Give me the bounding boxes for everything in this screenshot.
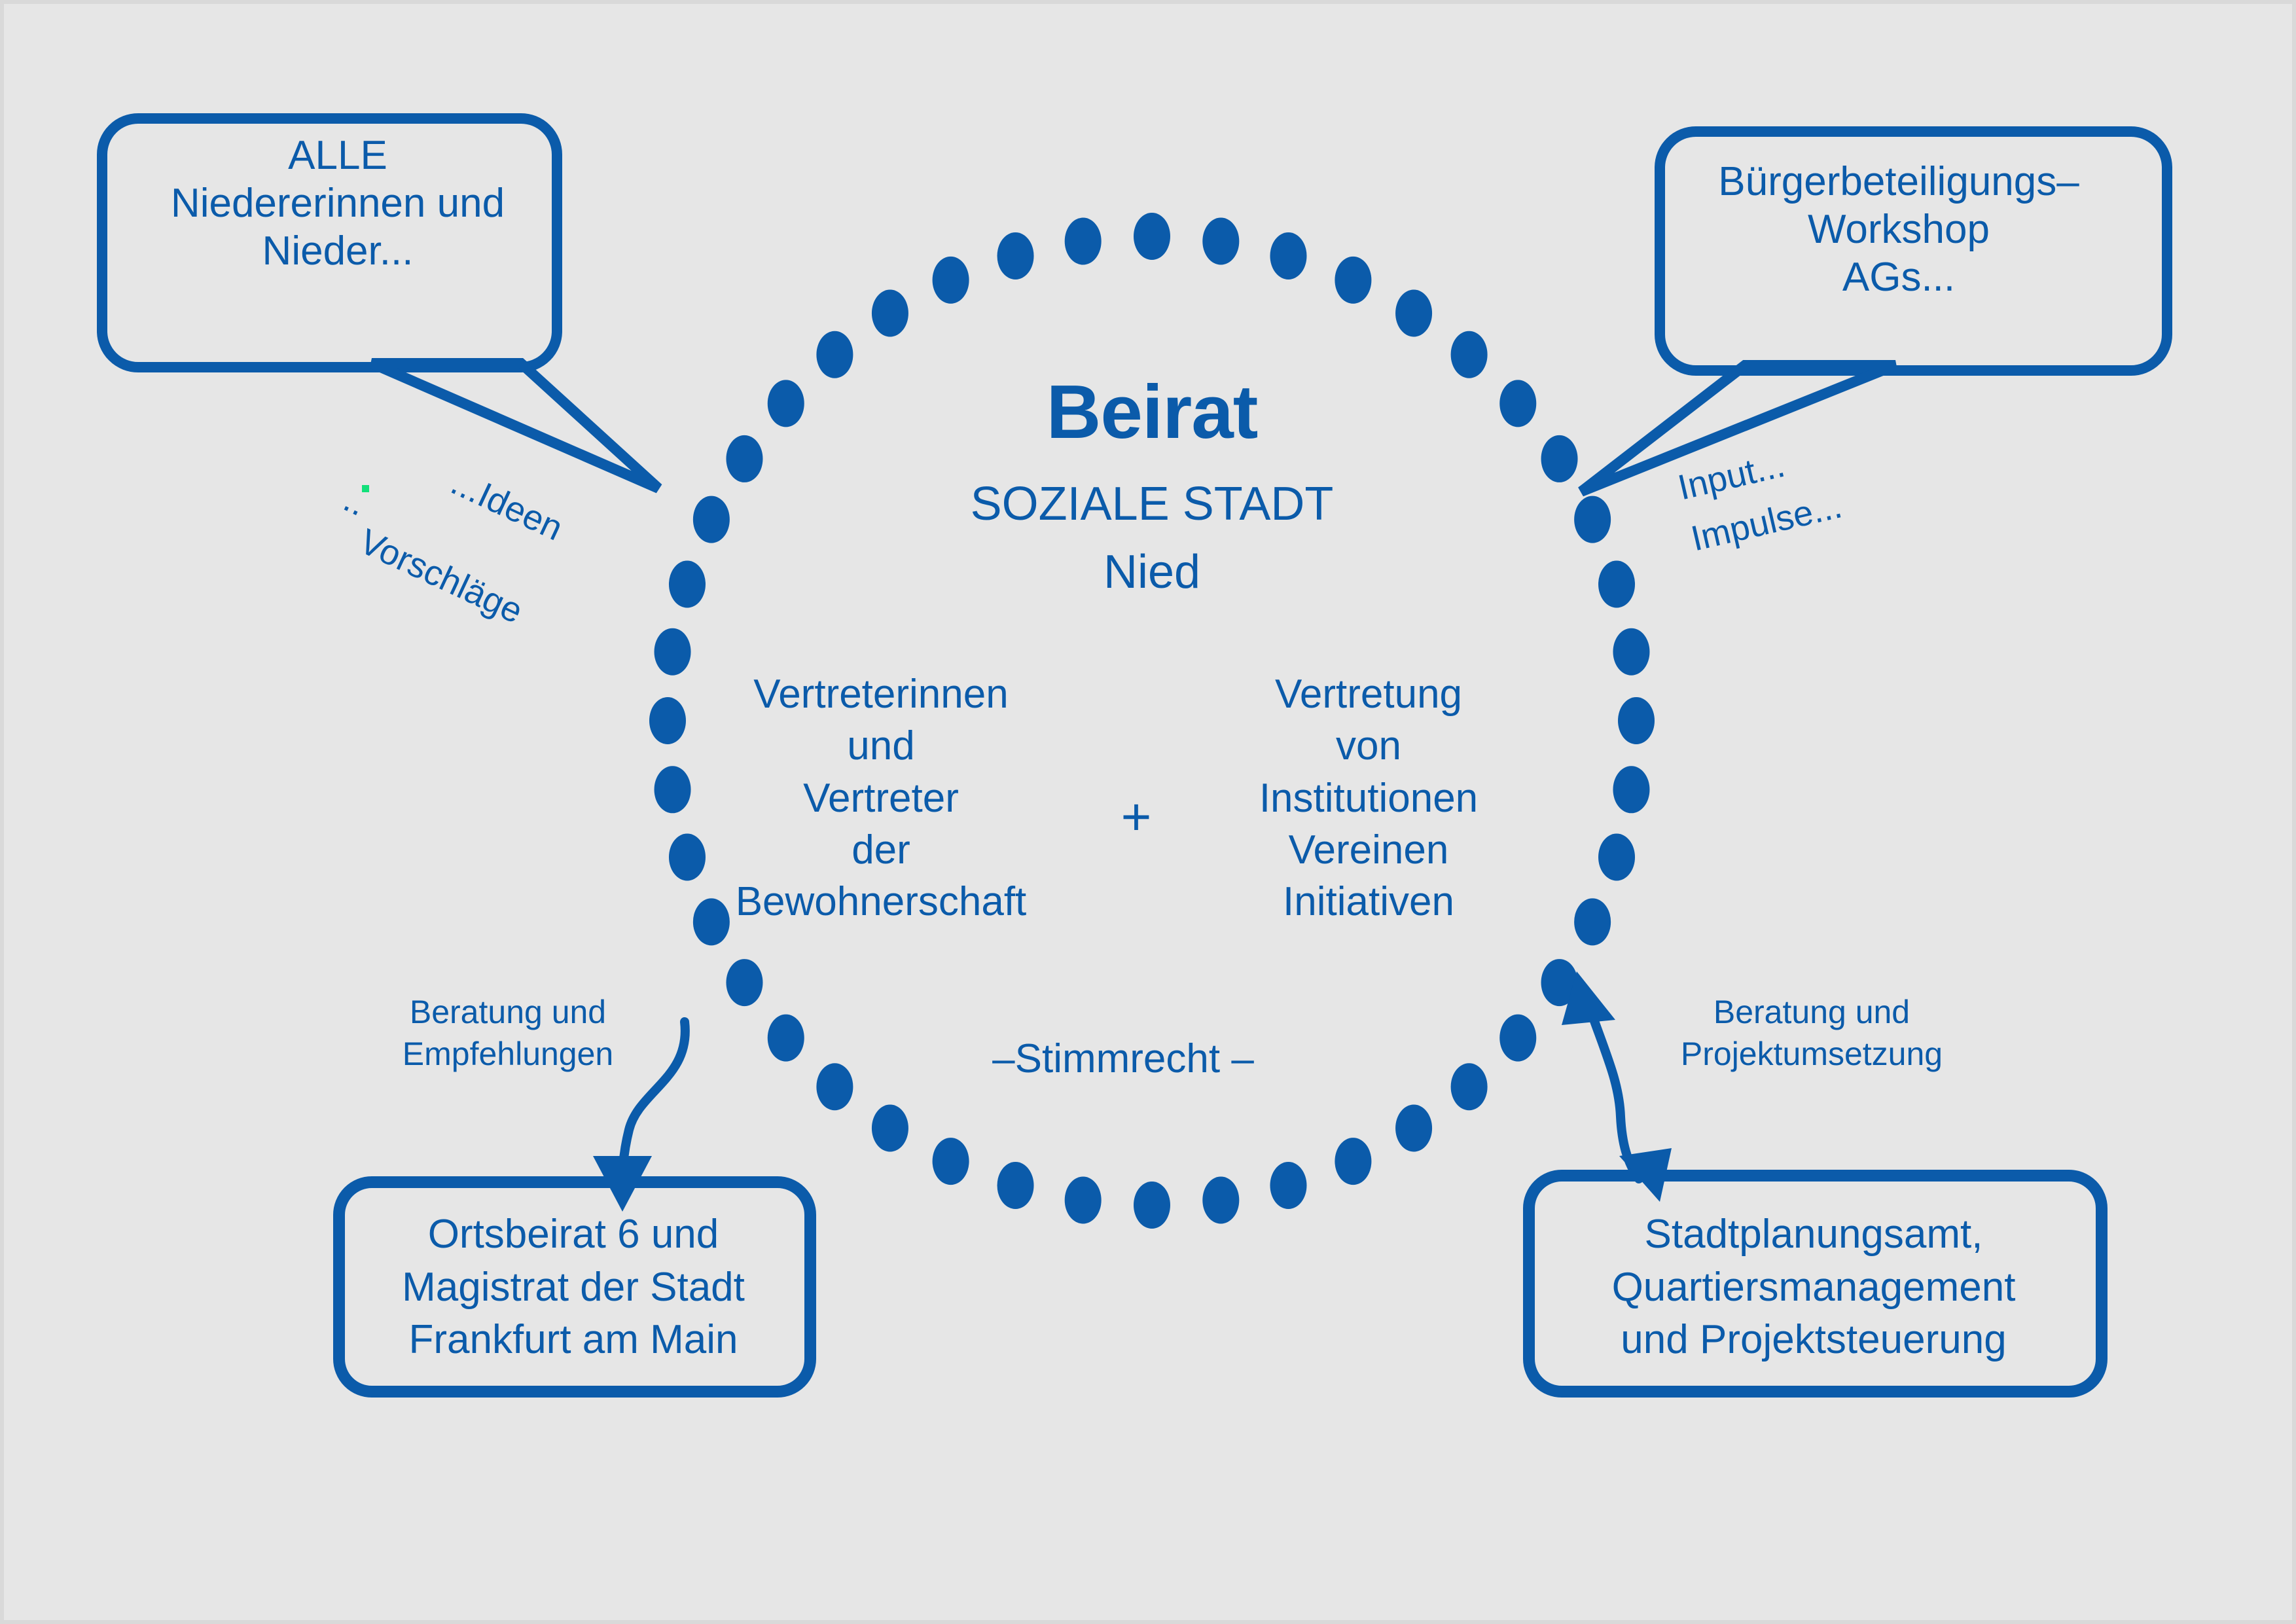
circle-dot <box>1270 232 1306 280</box>
circle-dot <box>1499 380 1536 427</box>
circle-dot <box>997 232 1034 280</box>
center-column-left: Vertreterinnen und Vertreter der Bewohne… <box>708 668 1054 928</box>
circle-dot <box>1451 1063 1488 1110</box>
circle-dot <box>1574 496 1611 543</box>
circle-dot <box>1270 1162 1306 1209</box>
circle-dot <box>872 289 908 336</box>
circle-dot <box>872 1105 908 1152</box>
center-footer-stimmrecht: –Stimmrecht – <box>914 1035 1333 1083</box>
bubble-right-label: Bürgerbeteiligungs– Workshop AGs... <box>1670 158 2128 301</box>
circle-dot <box>1598 561 1635 608</box>
page-title: Beirat <box>825 367 1479 457</box>
green-pixel-marker <box>362 485 369 492</box>
plus-icon: + <box>1077 786 1195 848</box>
center-column-right: Vertretung von Institutionen Vereinen In… <box>1211 668 1526 928</box>
bubble-left-label: ALLE Niedererinnen und Nieder... <box>102 132 573 275</box>
center-subtitle-line2: Nied <box>825 545 1479 600</box>
circle-dot <box>655 628 691 676</box>
diagram-canvas: ALLE Niedererinnen und Nieder... Bürgerb… <box>0 0 2296 1624</box>
circle-dot <box>1574 898 1611 945</box>
circle-dot <box>669 833 706 880</box>
circle-dot <box>1335 1138 1371 1185</box>
circle-dot <box>1618 697 1655 744</box>
circle-dot <box>1395 289 1432 336</box>
annotation-beratung-projektumsetzung: Beratung und Projektumsetzung <box>1648 991 1975 1075</box>
circle-dot <box>1613 628 1649 676</box>
circle-dot <box>933 257 969 304</box>
circle-dot <box>997 1162 1034 1209</box>
circle-dot <box>1499 1015 1536 1062</box>
circle-dot <box>726 959 762 1006</box>
circle-dot <box>726 435 762 482</box>
circle-dot <box>693 496 730 543</box>
circle-dot <box>649 697 686 744</box>
annotation-beratung-empfehlungen: Beratung und Empfehlungen <box>370 991 645 1075</box>
circle-dot <box>1202 218 1239 265</box>
circle-dot <box>1065 218 1102 265</box>
box-bottom-left-label: Ortsbeirat 6 und Magistrat der Stadt Fra… <box>344 1208 802 1367</box>
box-bottom-right-label: Stadtplanungsamt, Quartiersmanagement un… <box>1539 1208 2089 1367</box>
circle-dot <box>1395 1105 1432 1152</box>
circle-dot <box>1541 435 1578 482</box>
circle-dot <box>768 1015 804 1062</box>
circle-dot <box>669 561 706 608</box>
circle-dot <box>1598 833 1635 880</box>
circle-dot <box>1134 213 1170 260</box>
circle-dot <box>1202 1176 1239 1223</box>
center-subtitle-line1: SOZIALE STADT <box>825 477 1479 532</box>
circle-dot <box>1335 257 1371 304</box>
circle-dot <box>816 1063 853 1110</box>
circle-dot <box>1134 1182 1170 1229</box>
circle-dot <box>1065 1176 1102 1223</box>
circle-dot <box>768 380 804 427</box>
circle-dot <box>933 1138 969 1185</box>
circle-dot <box>1613 766 1649 813</box>
circle-dot <box>655 766 691 813</box>
